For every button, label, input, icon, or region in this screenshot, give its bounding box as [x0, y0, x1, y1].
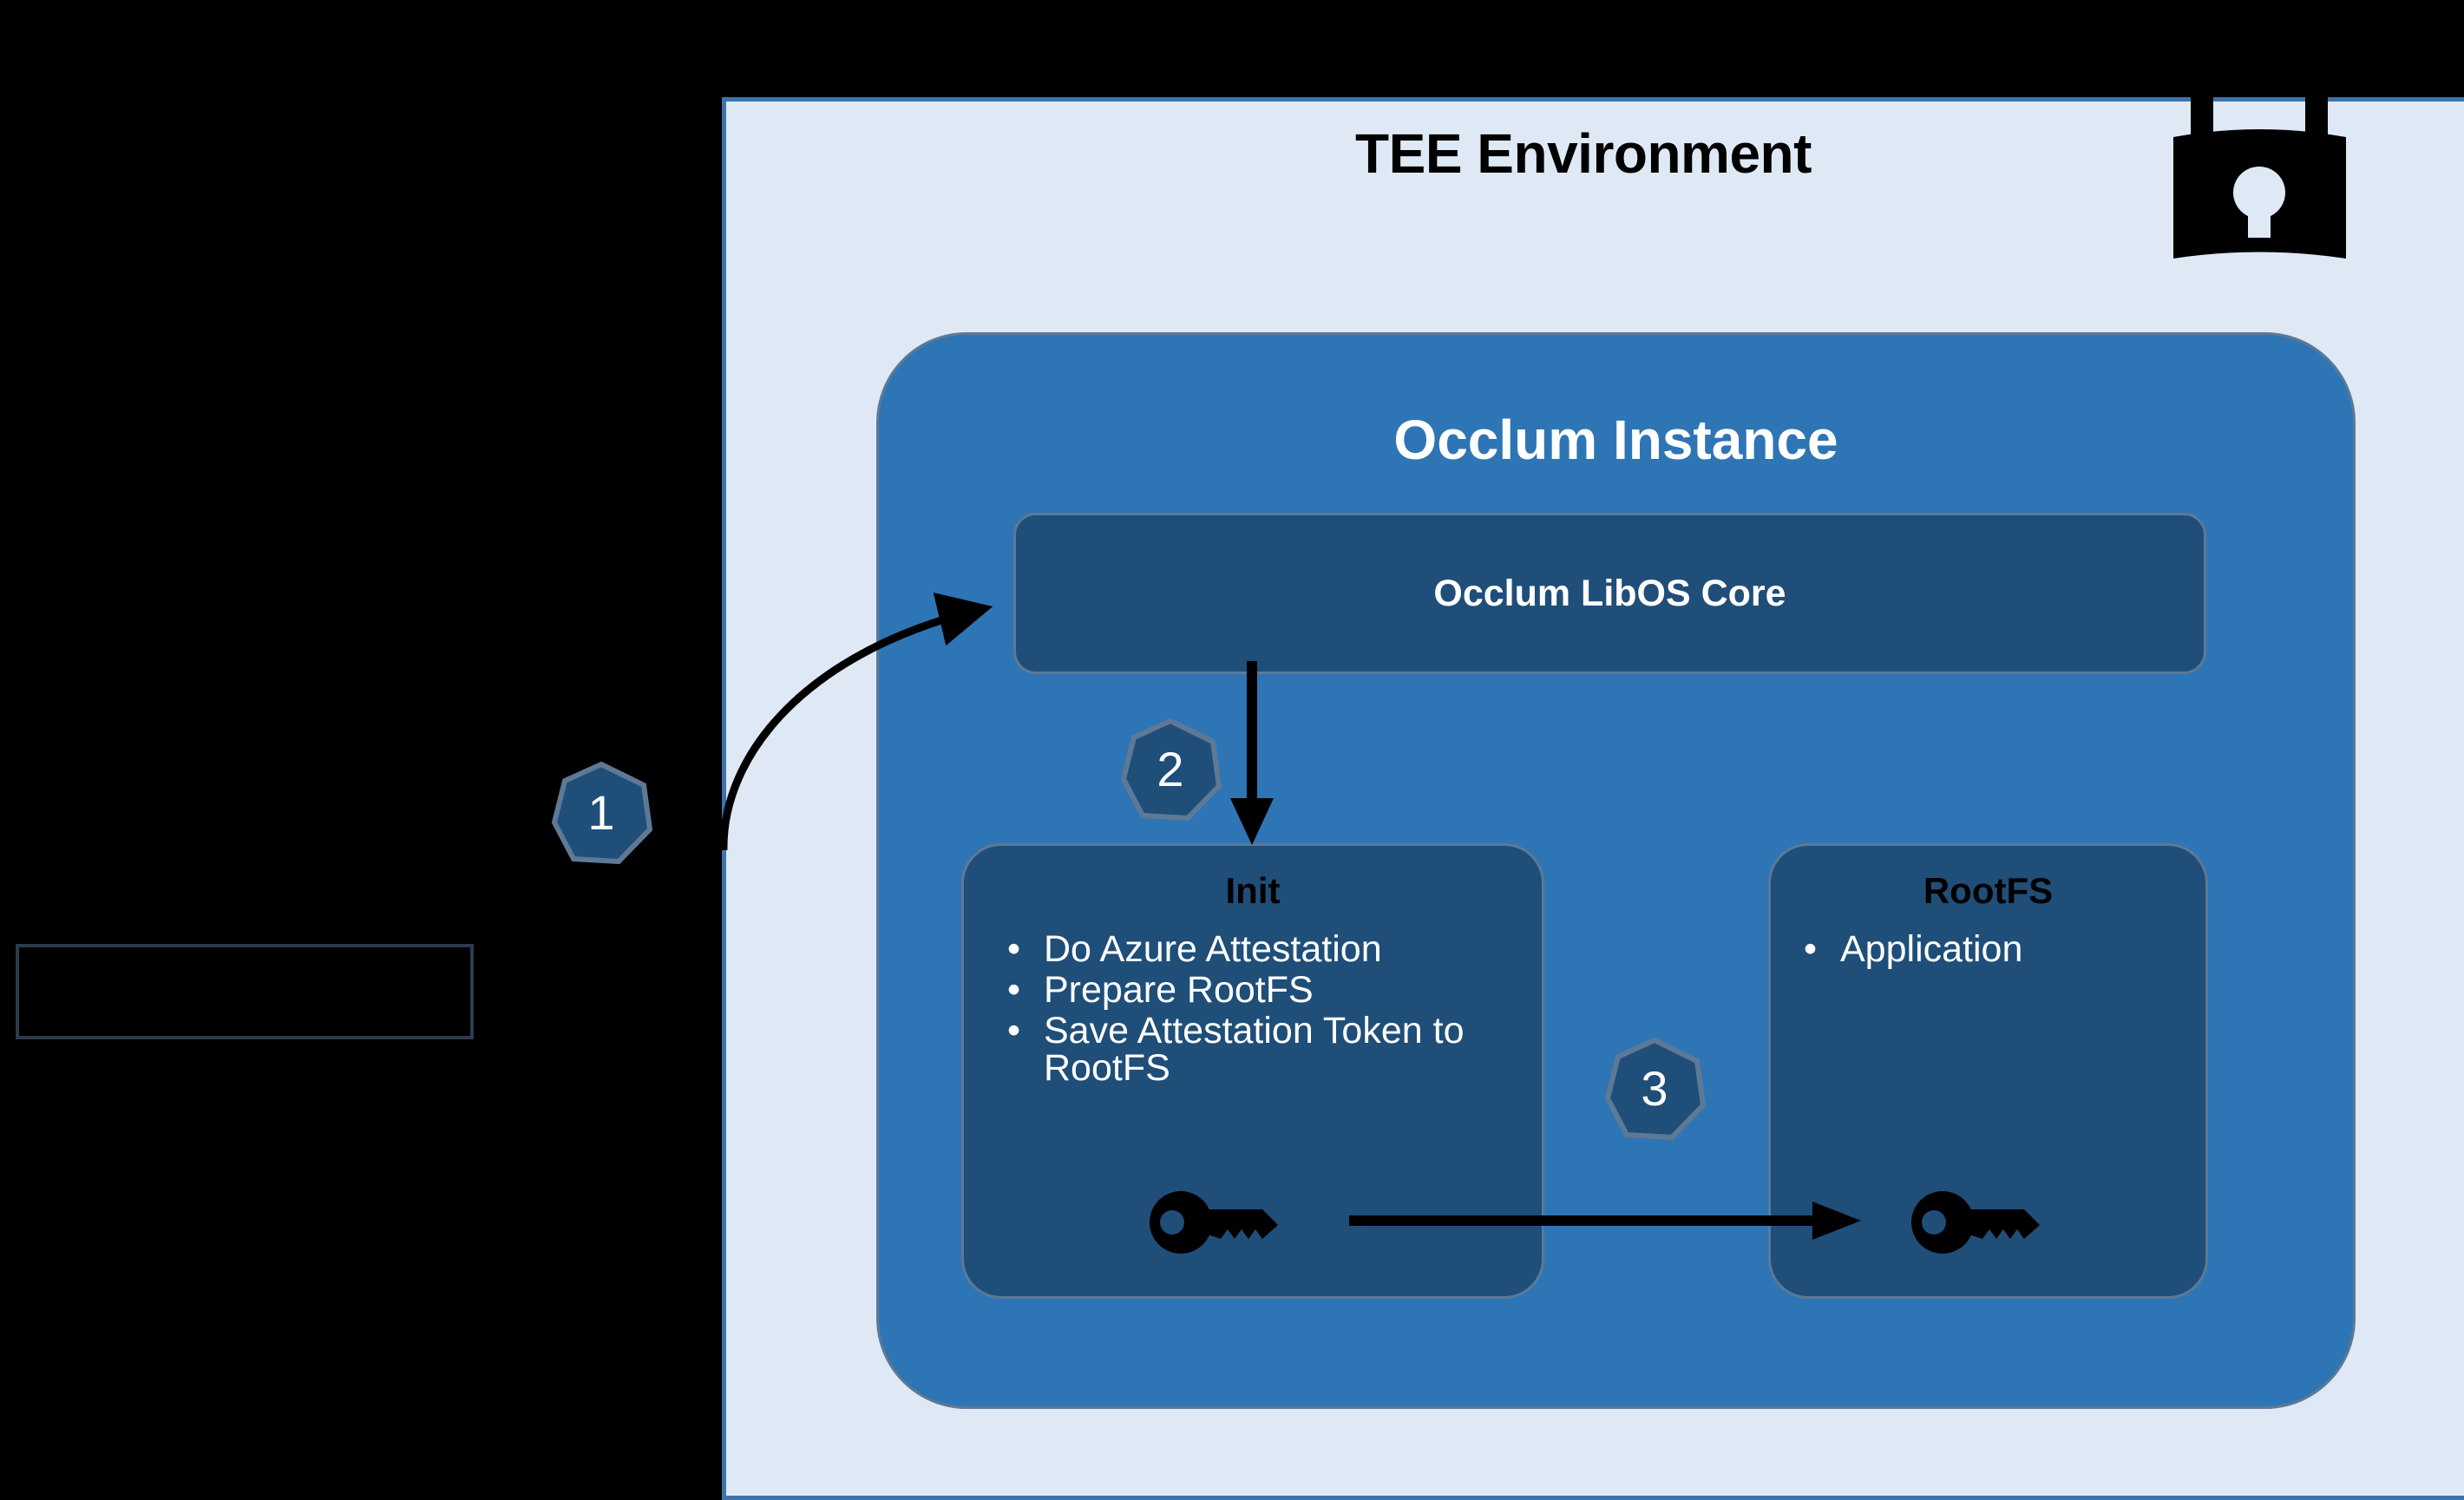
bullet-marker-icon: •: [1007, 1012, 1044, 1050]
bullet-marker-icon: •: [1007, 972, 1044, 1009]
init-title: Init: [964, 870, 1542, 912]
diagram-canvas: TEE Environment Occlum Instance Occlum L…: [0, 0, 2464, 1500]
rootfs-title: RootFS: [1771, 870, 2205, 912]
occlum-libos-core-box: Occlum LibOS Core: [1013, 513, 2206, 674]
init-bullet-text: Prepare RootFS: [1044, 972, 1585, 1009]
rootfs-bullet-text: Application: [1840, 931, 2238, 968]
empty-placeholder-rect: [16, 944, 474, 1039]
curved-arrow-to-libos: [685, 555, 1032, 850]
bullet-marker-icon: •: [1804, 931, 1840, 968]
step-badge-1: 1: [550, 762, 652, 864]
list-item: • Do Azure Attestation: [1007, 931, 1585, 968]
init-bullet-text: Do Azure Attestation: [1044, 931, 1585, 968]
step-badge-number: 3: [1603, 1038, 1706, 1140]
init-bullet-text: Save Attestation Token to RootFS: [1044, 1012, 1585, 1087]
list-item: • Application: [1804, 931, 2238, 968]
key-transfer-arrow: [1349, 1202, 1870, 1262]
occlum-instance-title: Occlum Instance: [876, 408, 2356, 472]
step-badge-number: 1: [550, 762, 652, 864]
key-icon: [1150, 1190, 1288, 1255]
list-item: • Prepare RootFS: [1007, 972, 1585, 1009]
rootfs-bullet-list: • Application: [1771, 931, 2238, 972]
padlock-icon: [2166, 35, 2353, 260]
down-arrow-libos-to-init: [1215, 661, 1336, 848]
step-badge-3: 3: [1603, 1038, 1706, 1140]
step-badge-number: 2: [1119, 718, 1222, 821]
key-icon: [1911, 1190, 2050, 1255]
init-bullet-list: • Do Azure Attestation • Prepare RootFS …: [964, 931, 1585, 1091]
step-badge-2: 2: [1119, 718, 1222, 821]
bullet-marker-icon: •: [1007, 931, 1044, 968]
occlum-libos-core-label: Occlum LibOS Core: [1433, 573, 1786, 615]
list-item: • Save Attestation Token to RootFS: [1007, 1012, 1585, 1087]
